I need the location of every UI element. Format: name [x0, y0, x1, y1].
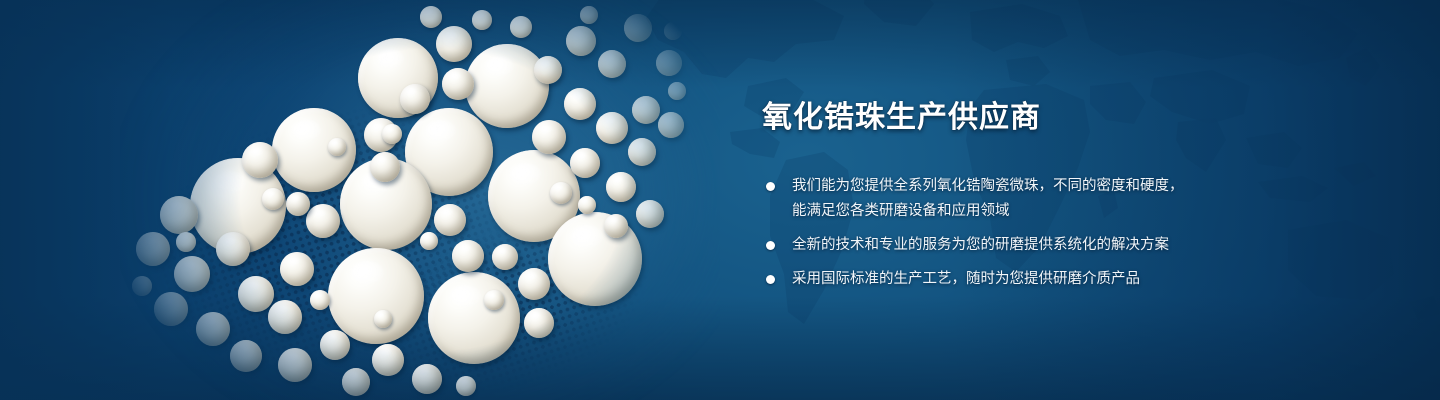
promo-banner: 氧化锆珠生产供应商 我们能为您提供全系列氧化锆陶瓷微珠，不同的密度和硬度， 能满…	[0, 0, 1440, 400]
bead-medium	[174, 256, 210, 292]
bead-small	[132, 276, 152, 296]
bead-medium	[160, 196, 198, 234]
bead-small	[262, 188, 284, 210]
bead-large	[465, 44, 549, 128]
bead-small	[664, 22, 682, 40]
bead-small	[550, 182, 572, 204]
bead-small	[668, 82, 686, 100]
list-item: 全新的技术和专业的服务为您的研磨提供系统化的解决方案	[762, 233, 1282, 258]
bead-medium	[570, 148, 600, 178]
bead-small	[578, 196, 596, 214]
bead-medium	[268, 300, 302, 334]
bead-medium	[598, 50, 626, 78]
bead-medium	[306, 204, 340, 238]
bead-medium	[636, 200, 664, 228]
bullet-dot-icon	[766, 182, 775, 191]
bead-medium	[632, 96, 660, 124]
bead-medium	[564, 88, 596, 120]
bead-medium	[656, 50, 682, 76]
bead-medium	[286, 192, 310, 216]
bead-medium	[658, 112, 684, 138]
list-item-line1: 我们能为您提供全系列氧化锆陶瓷微珠，不同的密度和硬度，	[792, 178, 1184, 194]
bead-medium	[342, 368, 370, 396]
bead-medium	[136, 232, 170, 266]
banner-headline: 氧化锆珠生产供应商	[762, 100, 1282, 136]
bead-medium	[624, 14, 652, 42]
bullet-dot-icon	[766, 275, 775, 284]
bead-medium	[400, 84, 430, 114]
bead-medium	[524, 308, 554, 338]
bead-medium	[196, 312, 230, 346]
bead-medium	[532, 120, 566, 154]
bead-medium	[412, 364, 442, 394]
bead-small	[472, 10, 492, 30]
bead-medium	[242, 142, 278, 178]
bead-small	[328, 138, 346, 156]
bead-large	[428, 272, 520, 364]
bead-medium	[238, 276, 274, 312]
list-item-line2: 能满足您各类研磨设备和应用领域	[792, 199, 1282, 224]
bead-medium	[280, 252, 314, 286]
bead-large	[328, 248, 424, 344]
bead-medium	[372, 344, 404, 376]
bead-medium	[320, 330, 350, 360]
bead-medium	[628, 138, 656, 166]
bead-medium	[278, 348, 312, 382]
banner-copy: 氧化锆珠生产供应商 我们能为您提供全系列氧化锆陶瓷微珠，不同的密度和硬度， 能满…	[762, 100, 1282, 301]
bead-small	[310, 290, 330, 310]
bead-medium	[436, 26, 472, 62]
bead-small	[456, 376, 476, 396]
bead-small	[420, 232, 438, 250]
bead-small	[176, 232, 196, 252]
list-item: 我们能为您提供全系列氧化锆陶瓷微珠，不同的密度和硬度， 能满足您各类研磨设备和应…	[762, 174, 1282, 224]
bead-medium	[492, 244, 518, 270]
bead-medium	[606, 172, 636, 202]
bead-medium	[452, 240, 484, 272]
bead-small	[374, 310, 392, 328]
bead-medium	[534, 56, 562, 84]
bead-medium	[434, 204, 466, 236]
bead-medium	[154, 292, 188, 326]
list-item: 采用国际标准的生产工艺，随时为您提供研磨介质产品	[762, 267, 1282, 292]
bead-medium	[230, 340, 262, 372]
bead-medium	[518, 268, 550, 300]
bead-small	[382, 124, 402, 144]
bead-small	[580, 6, 598, 24]
zirconia-beads-photo	[120, 0, 720, 400]
bead-small	[510, 16, 532, 38]
bead-medium	[370, 152, 400, 182]
bullet-dot-icon	[766, 241, 775, 250]
bead-medium	[216, 232, 250, 266]
list-item-line1: 全新的技术和专业的服务为您的研磨提供系统化的解决方案	[792, 237, 1169, 253]
bead-medium	[442, 68, 474, 100]
bead-medium	[596, 112, 628, 144]
bead-medium	[604, 214, 628, 238]
bead-small	[484, 290, 504, 310]
feature-list: 我们能为您提供全系列氧化锆陶瓷微珠，不同的密度和硬度， 能满足您各类研磨设备和应…	[762, 174, 1282, 292]
bead-small	[420, 6, 442, 28]
list-item-line1: 采用国际标准的生产工艺，随时为您提供研磨介质产品	[792, 271, 1140, 287]
bead-medium	[566, 26, 596, 56]
